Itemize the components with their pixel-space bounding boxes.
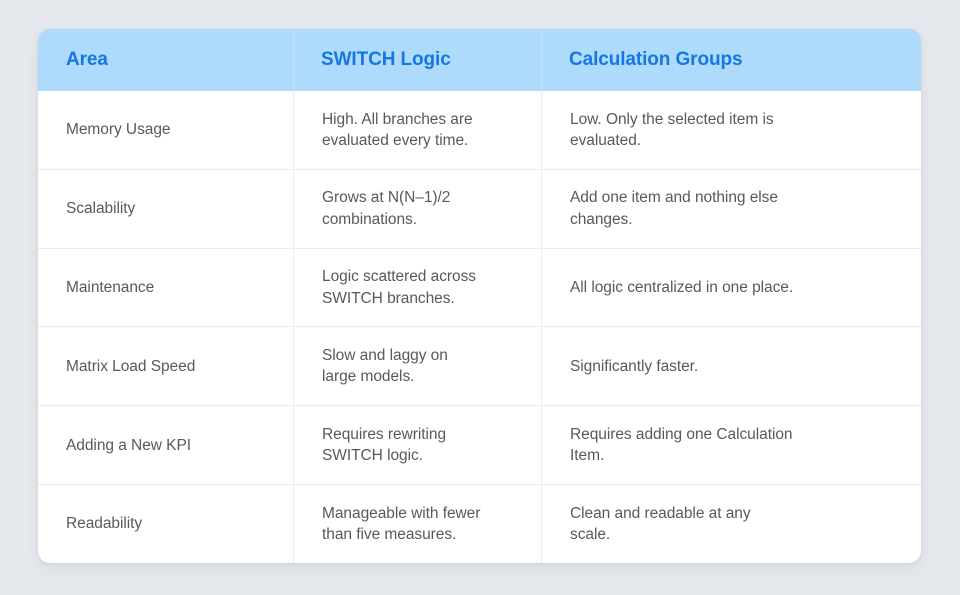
cell-calculation-groups: Add one item and nothing else changes. bbox=[541, 170, 921, 248]
table-row: Readability Manageable with fewer than f… bbox=[38, 484, 921, 563]
table-row: Memory Usage High. All branches are eval… bbox=[38, 91, 921, 169]
cell-area: Scalability bbox=[38, 170, 293, 248]
cell-area: Matrix Load Speed bbox=[38, 327, 293, 405]
cell-calculation-groups: Significantly faster. bbox=[541, 327, 921, 405]
cell-calculation-groups: Clean and readable at any scale. bbox=[541, 485, 921, 563]
cell-area: Memory Usage bbox=[38, 91, 293, 169]
column-header-area: Area bbox=[38, 29, 293, 91]
cell-switch-logic: Manageable with fewer than five measures… bbox=[293, 485, 541, 563]
cell-switch-logic: High. All branches are evaluated every t… bbox=[293, 91, 541, 169]
cell-calculation-groups: Requires adding one Calculation Item. bbox=[541, 406, 921, 484]
cell-switch-logic: Slow and laggy on large models. bbox=[293, 327, 541, 405]
column-header-switch-logic: SWITCH Logic bbox=[293, 29, 541, 91]
cell-calculation-groups: Low. Only the selected item is evaluated… bbox=[541, 91, 921, 169]
table-row: Scalability Grows at N(N–1)/2 combinatio… bbox=[38, 169, 921, 248]
cell-area: Maintenance bbox=[38, 249, 293, 327]
cell-switch-logic: Grows at N(N–1)/2 combinations. bbox=[293, 170, 541, 248]
cell-switch-logic: Logic scattered across SWITCH branches. bbox=[293, 249, 541, 327]
column-header-calculation-groups: Calculation Groups bbox=[541, 29, 921, 91]
comparison-table: Area SWITCH Logic Calculation Groups Mem… bbox=[38, 29, 921, 563]
cell-switch-logic: Requires rewriting SWITCH logic. bbox=[293, 406, 541, 484]
cell-area: Readability bbox=[38, 485, 293, 563]
table-header-row: Area SWITCH Logic Calculation Groups bbox=[38, 29, 921, 91]
table-body: Memory Usage High. All branches are eval… bbox=[38, 91, 921, 563]
cell-area: Adding a New KPI bbox=[38, 406, 293, 484]
table-row: Matrix Load Speed Slow and laggy on larg… bbox=[38, 326, 921, 405]
table-row: Adding a New KPI Requires rewriting SWIT… bbox=[38, 405, 921, 484]
page-root: Area SWITCH Logic Calculation Groups Mem… bbox=[0, 0, 960, 595]
table-row: Maintenance Logic scattered across SWITC… bbox=[38, 248, 921, 327]
cell-calculation-groups: All logic centralized in one place. bbox=[541, 249, 921, 327]
